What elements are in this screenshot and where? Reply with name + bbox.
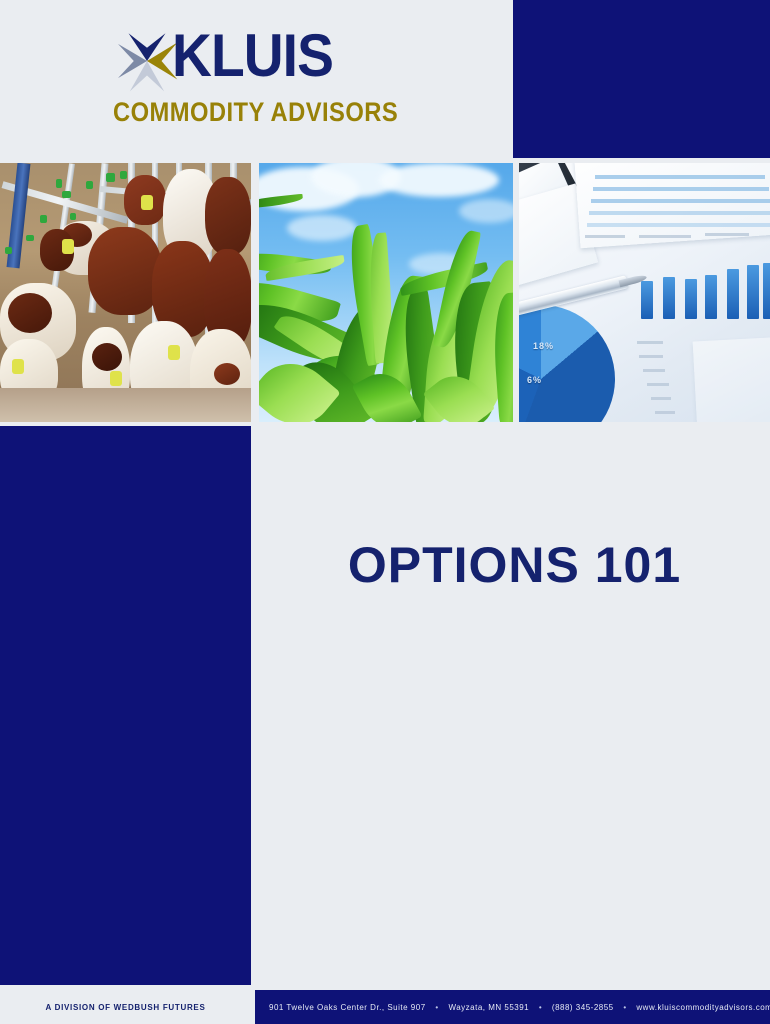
footer-separator-3: • — [623, 1003, 626, 1012]
cattle-photo — [0, 163, 251, 422]
pie-slice-label-2: 6% — [527, 375, 542, 385]
footer-division-block: A DIVISION OF WEDBUSH FUTURES — [0, 990, 251, 1024]
footer-division-label: A DIVISION OF WEDBUSH FUTURES — [45, 1003, 205, 1012]
corn-photo — [259, 163, 513, 422]
footer-separator-2: • — [539, 1003, 542, 1012]
logo-wordmark: KLUIS — [172, 22, 333, 90]
footer-address: 901 Twelve Oaks Center Dr., Suite 907 — [269, 1003, 426, 1012]
pie-slice-label-1: 18% — [533, 341, 554, 351]
footer-contact-line: 901 Twelve Oaks Center Dr., Suite 907 • … — [269, 1003, 770, 1012]
footer-contact-bar: 901 Twelve Oaks Center Dr., Suite 907 • … — [255, 990, 770, 1024]
header-band: KLUIS COMMODITY ADVISORS — [0, 0, 770, 158]
left-navy-block — [0, 426, 251, 985]
footer-website[interactable]: www.kluiscommodityadvisors.com — [636, 1003, 770, 1012]
logo-subtitle: COMMODITY ADVISORS — [113, 96, 398, 128]
footer-city-state-zip: Wayzata, MN 55391 — [448, 1003, 529, 1012]
document-cover-page: KLUIS COMMODITY ADVISORS — [0, 0, 770, 1024]
cover-photo-strip: 18% 6% — [0, 163, 770, 422]
header-navy-accent-block — [513, 0, 770, 158]
page-title: OPTIONS 101 — [259, 535, 770, 595]
footer-phone[interactable]: (888) 345-2855 — [552, 1003, 614, 1012]
footer-separator-1: • — [435, 1003, 438, 1012]
kluis-logo: KLUIS COMMODITY ADVISORS — [110, 22, 410, 137]
charts-photo: 18% 6% — [519, 163, 770, 422]
kluis-star-burst-icon — [114, 28, 180, 94]
